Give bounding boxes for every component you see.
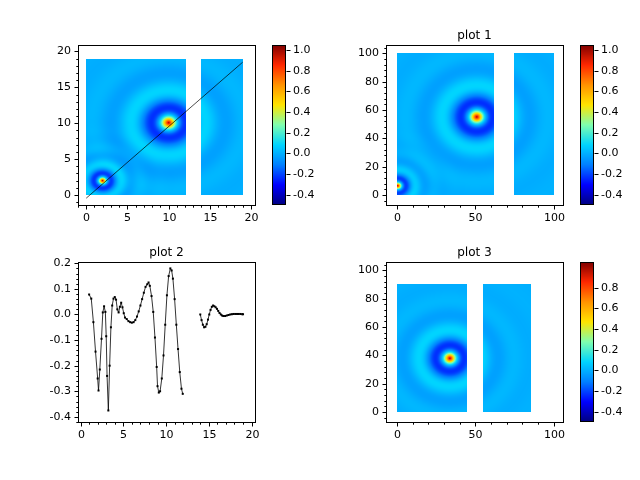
figure-canvas-root: plot 1 plot 2 plot 3 (0, 0, 640, 480)
heatmap-plot-3[interactable] (320, 240, 640, 480)
subplot-bottom-left[interactable]: plot 2 (0, 240, 320, 480)
plot-title-plot-3: plot 3 (386, 245, 563, 259)
heatmap-plot-top-left[interactable] (0, 0, 320, 240)
plot-title-plot-2: plot 2 (78, 245, 255, 259)
subplot-bottom-right[interactable]: plot 3 (320, 240, 640, 480)
line-plot-2[interactable] (0, 240, 320, 480)
subplot-top-left[interactable] (0, 0, 320, 240)
plot-title-plot-1: plot 1 (386, 28, 563, 42)
subplot-top-right[interactable]: plot 1 (320, 0, 640, 240)
